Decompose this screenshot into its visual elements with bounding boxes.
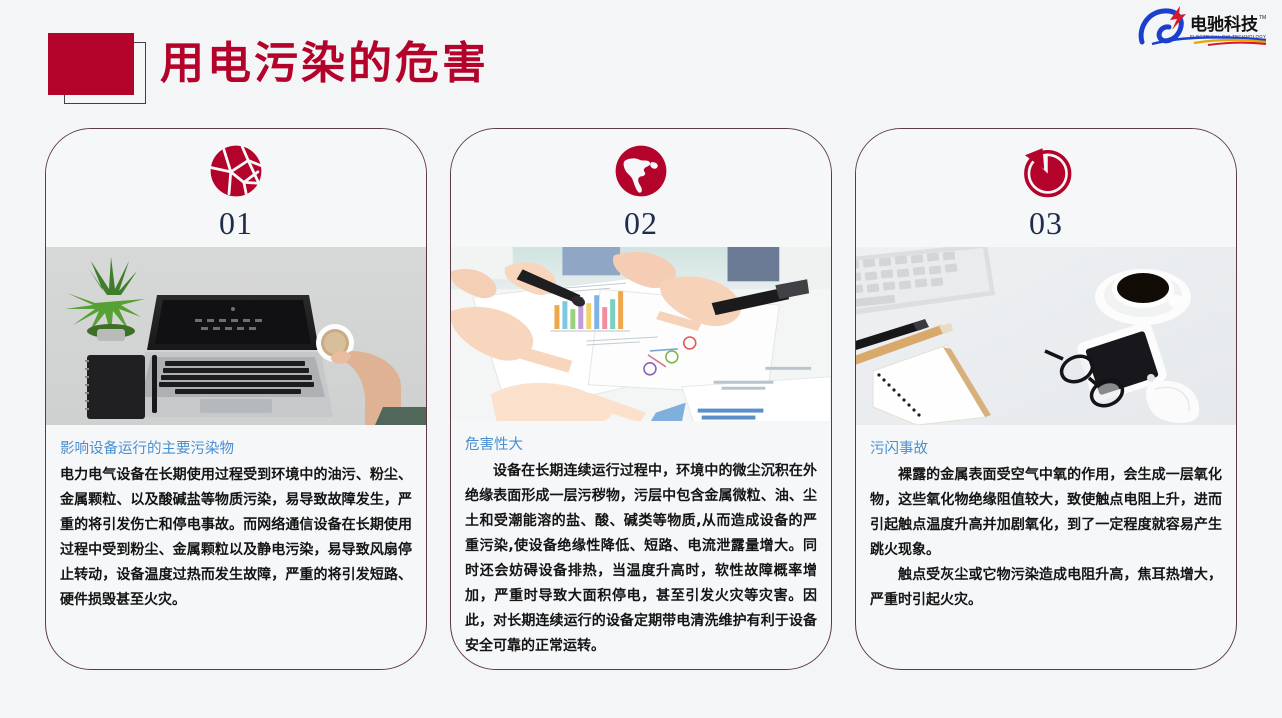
card-number: 03 bbox=[1029, 205, 1063, 241]
card-header: 01 bbox=[46, 129, 426, 241]
card-heading: 危害性大 bbox=[465, 435, 817, 455]
card-heading: 影响设备运行的主要污染物 bbox=[60, 439, 412, 459]
pie-chart-exploded-icon bbox=[1018, 143, 1074, 199]
globe-americas-icon bbox=[613, 143, 669, 199]
cards-row: 01 bbox=[0, 128, 1282, 673]
card-number: 02 bbox=[624, 205, 658, 241]
content-card-03[interactable]: 03 bbox=[855, 128, 1237, 670]
card-paragraph: 裸露的金属表面受空气中氧的作用，会生成一层氧化物，这些氧化物绝缘阻值较大，致使触… bbox=[870, 463, 1222, 563]
card-heading: 污闪事故 bbox=[870, 439, 1222, 459]
card-body: 危害性大 设备在长期连续运行过程中，环境中的微尘沉积在外绝缘表面形成一层污秽物，… bbox=[451, 421, 831, 669]
title-zone: 用电污染的危害 bbox=[0, 0, 700, 120]
title-decoration-square bbox=[48, 33, 134, 95]
card-header: 03 bbox=[856, 129, 1236, 241]
page-title: 用电污染的危害 bbox=[160, 36, 489, 92]
card-body: 污闪事故 裸露的金属表面受空气中氧的作用，会生成一层氧化物，这些氧化物绝缘阻值较… bbox=[856, 425, 1236, 669]
cracked-sphere-icon bbox=[208, 143, 264, 199]
card-paragraph: 触点受灰尘或它物污染造成电阻升高，焦耳热增大，严重时引起火灾。 bbox=[870, 563, 1222, 613]
card-paragraph: 电力电气设备在长期使用过程受到环境中的油污、粉尘、金属颗粒、以及酸碱盐等物质污染… bbox=[60, 463, 412, 613]
card-photo-desk-laptop bbox=[46, 247, 426, 425]
card-body: 影响设备运行的主要污染物 电力电气设备在长期使用过程受到环境中的油污、粉尘、金属… bbox=[46, 425, 426, 669]
card-number: 01 bbox=[219, 205, 253, 241]
content-card-01[interactable]: 01 bbox=[45, 128, 427, 670]
card-header: 02 bbox=[451, 129, 831, 241]
slide-root: 电驰科技 ELECTRICAL CHI TECHNOLOGY TM 用电污染的危… bbox=[0, 0, 1282, 718]
svg-text:TM: TM bbox=[1259, 15, 1266, 21]
logo-mark-icon: 电驰科技 ELECTRICAL CHI TECHNOLOGY TM bbox=[1134, 2, 1274, 48]
card-photo-white-desk bbox=[856, 247, 1236, 425]
card-photo-meeting-charts bbox=[451, 247, 831, 421]
company-logo: 电驰科技 ELECTRICAL CHI TECHNOLOGY TM bbox=[1134, 2, 1274, 48]
card-paragraph: 设备在长期连续运行过程中，环境中的微尘沉积在外绝缘表面形成一层污秽物，污层中包含… bbox=[465, 459, 817, 659]
svg-text:电驰科技: 电驰科技 bbox=[1190, 14, 1259, 35]
content-card-02[interactable]: 02 bbox=[450, 128, 832, 670]
